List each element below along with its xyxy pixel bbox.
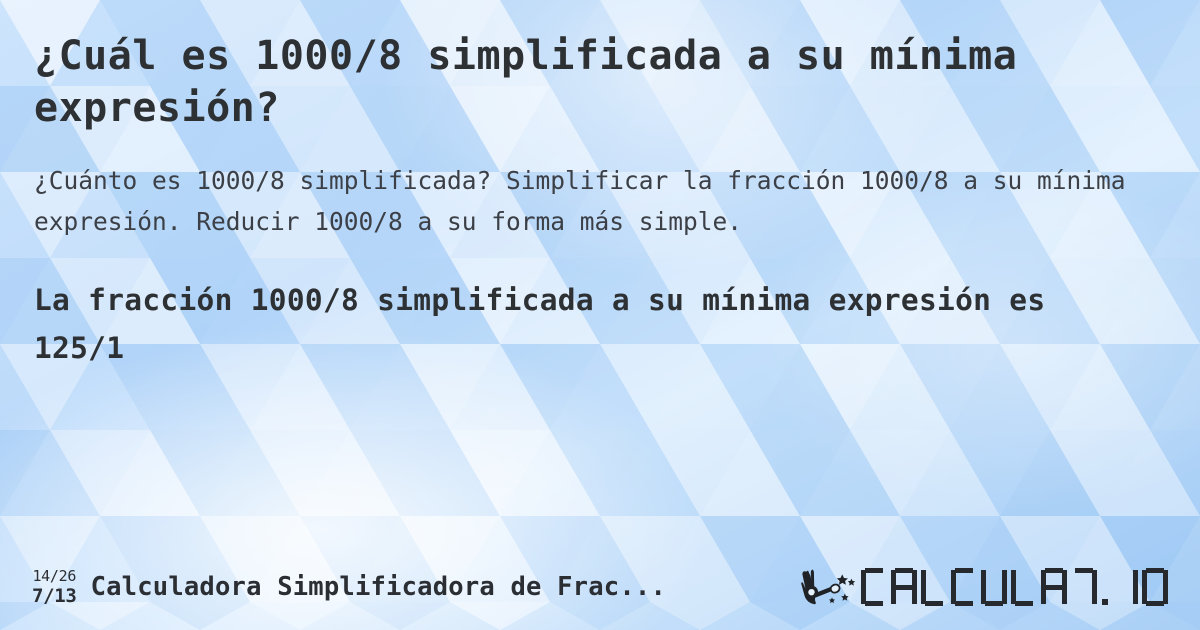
- hand-magic-wand-icon: [801, 566, 859, 608]
- card-content: ¿Cuál es 1000/8 simplificada a su mínima…: [0, 0, 1200, 630]
- footer-bar: 14/26 7/13 Calculadora Simplificadora de…: [0, 566, 1200, 608]
- brand-wordmark: CALCULAT.IO: [861, 568, 1172, 606]
- lcd-letter-a: [891, 568, 917, 606]
- page-title: ¿Cuál es 1000/8 simplificada a su mínima…: [34, 30, 1054, 134]
- answer-statement: La fracción 1000/8 simplificada a su mín…: [34, 242, 1094, 372]
- lcd-dot: [1102, 599, 1108, 605]
- lcd-letter-l: [921, 568, 947, 606]
- brand-logo[interactable]: CALCULAT.IO: [801, 566, 1172, 608]
- lcd-letter-u: [981, 568, 1007, 606]
- lcd-letter-t: [1071, 568, 1097, 606]
- lcd-letter-a2: [1041, 568, 1067, 606]
- lcd-letter-i: [1112, 568, 1138, 606]
- lcd-letter-o: [1142, 568, 1168, 606]
- lcd-letter-c2: [951, 568, 977, 606]
- badge-fraction-simplified: 7/13: [32, 587, 77, 606]
- fraction-badge-icon: 14/26 7/13: [32, 569, 77, 606]
- page-description: ¿Cuánto es 1000/8 simplificada? Simplifi…: [34, 134, 1164, 242]
- footer-section-title: Calculadora Simplificadora de Frac...: [91, 572, 666, 602]
- badge-fraction-original: 14/26: [32, 569, 76, 584]
- og-image-card: ¿Cuál es 1000/8 simplificada a su mínima…: [0, 0, 1200, 630]
- lcd-letter-c: [861, 568, 887, 606]
- lcd-letter-l2: [1011, 568, 1037, 606]
